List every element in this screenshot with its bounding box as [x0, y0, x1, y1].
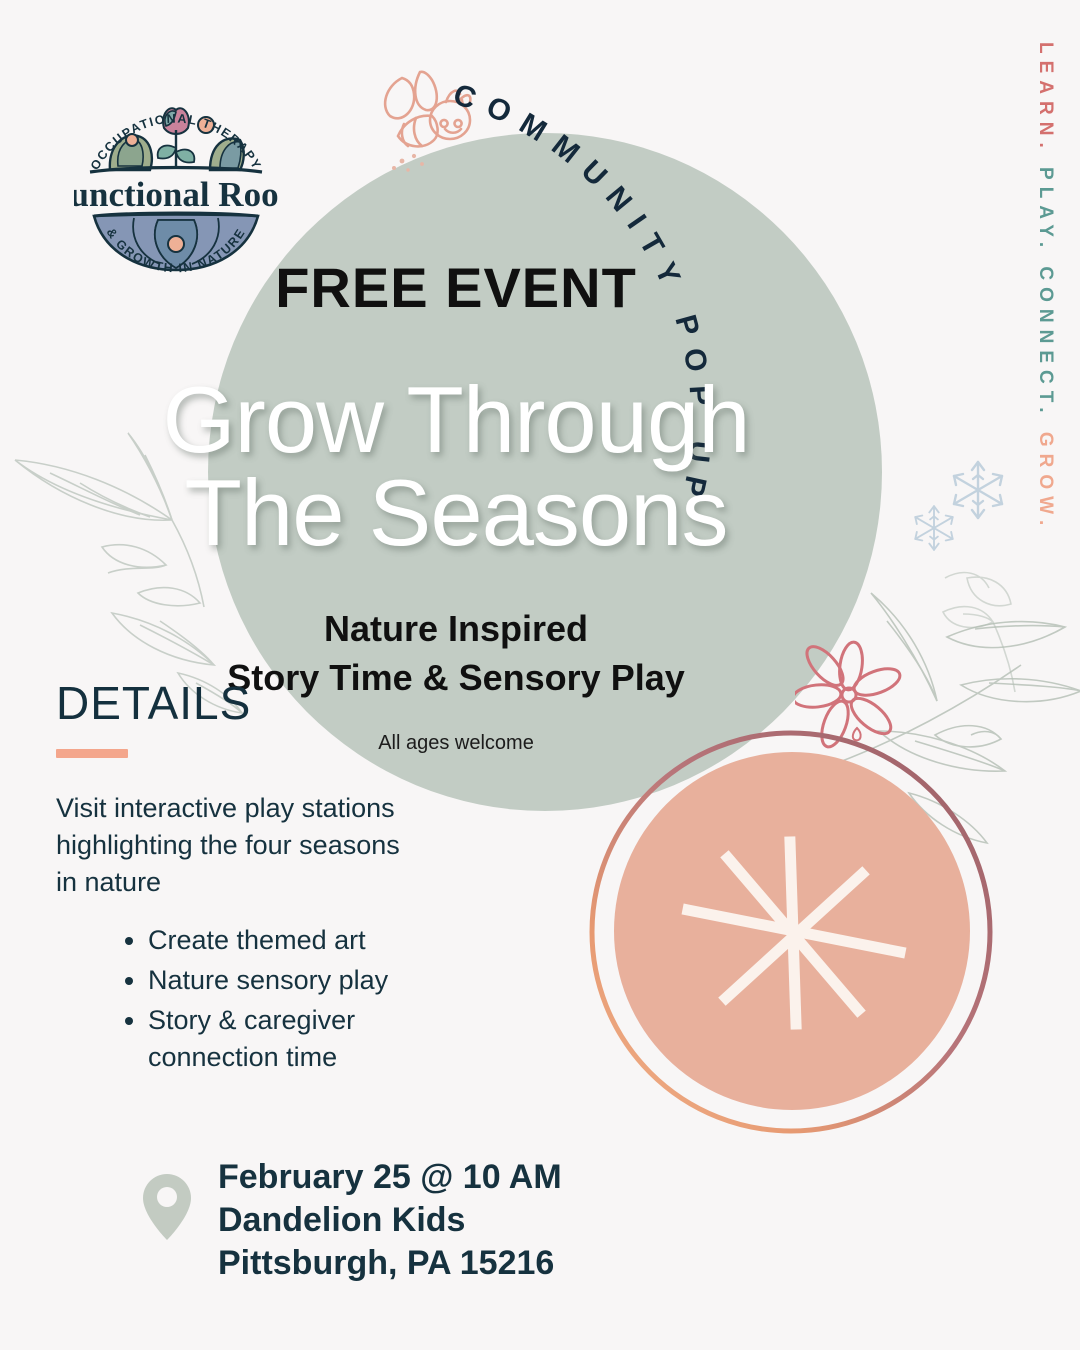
event-datetime: February 25 @ 10 AM: [218, 1156, 562, 1199]
details-accent-rule: [56, 749, 128, 758]
tagline-learn: LEARN.: [1035, 42, 1056, 155]
map-pin-icon: [141, 1172, 193, 1242]
page-title: Grow Through The Seasons: [0, 373, 1080, 559]
functional-roots-logo: Functional Roots OCCUPATIONAL THERAPY & …: [74, 92, 278, 278]
title-line-2: The Seasons: [0, 466, 912, 559]
title-line-1: Grow Through: [162, 367, 749, 472]
starburst-icon: [672, 828, 914, 1036]
list-item: Create themed art: [148, 922, 478, 959]
svg-text:Functional Roots: Functional Roots: [74, 175, 278, 214]
tagline-play: PLAY.: [1035, 167, 1056, 254]
location-block: February 25 @ 10 AM Dandelion Kids Pitts…: [218, 1156, 562, 1286]
subtitle-line-1: Nature Inspired: [324, 608, 588, 649]
details-bullet-list: Create themed art Nature sensory play St…: [118, 922, 478, 1079]
event-venue: Dandelion Kids: [218, 1199, 562, 1242]
list-item: Story & caregiver connection time: [148, 1002, 478, 1076]
event-city: Pittsburgh, PA 15216: [218, 1242, 562, 1285]
free-event-eyebrow: FREE EVENT: [0, 255, 1080, 320]
event-flyer: Functional Roots OCCUPATIONAL THERAPY & …: [0, 0, 1080, 1350]
details-body-text: Visit interactive play stations highligh…: [56, 790, 416, 901]
list-item: Nature sensory play: [148, 962, 478, 999]
details-heading: DETAILS: [56, 676, 251, 730]
